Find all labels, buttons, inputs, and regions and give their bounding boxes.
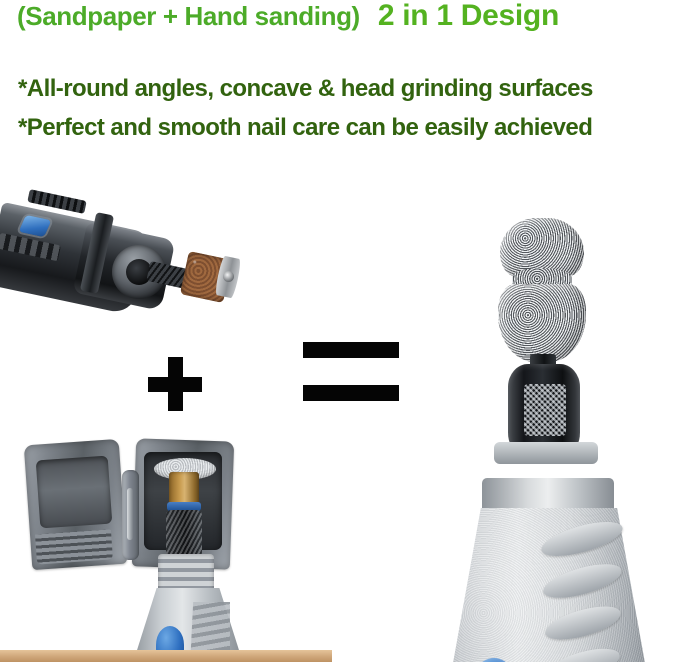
guard-hinge	[122, 470, 139, 560]
tool-grip-ridge	[542, 600, 624, 646]
wooden-surface-strip	[0, 650, 332, 662]
tool-grip-ridge	[540, 557, 625, 604]
guard-shell-left-cavity	[36, 456, 113, 529]
mandrel-knurled-grip	[524, 384, 566, 436]
feature-bullet-list: *All-round angles, concave & head grindi…	[18, 70, 679, 148]
feature-bullet-2: *Perfect and smooth nail care can be eas…	[18, 109, 679, 148]
plus-operator-icon	[148, 357, 202, 411]
guard-shell-left-fins	[35, 529, 113, 564]
diamond-bit-lower-lobe	[498, 284, 586, 362]
guard-collet-knurled	[166, 510, 202, 560]
tool-grip-ridge	[544, 642, 623, 662]
headline-row: (Sandpaper + Hand sanding) 2 in 1 Design	[0, 0, 679, 34]
tool-nose-collar	[494, 442, 598, 464]
clamshell-guard-attachment-photo	[22, 432, 272, 662]
feature-bullet-1: *All-round angles, concave & head grindi…	[18, 70, 679, 109]
sanding-drum-screw-icon	[223, 271, 234, 282]
rotary-tool-with-sanding-drum-photo	[0, 193, 244, 333]
tool-grip-ridge-group	[540, 526, 636, 662]
headline-subtitle: (Sandpaper + Hand sanding)	[17, 3, 360, 29]
product-feature-graphic: (Sandpaper + Hand sanding) 2 in 1 Design…	[0, 0, 679, 662]
assembled-grinding-bit-photo	[420, 196, 679, 662]
equals-operator-icon	[303, 342, 399, 402]
headline-title: 2 in 1 Design	[378, 1, 559, 31]
